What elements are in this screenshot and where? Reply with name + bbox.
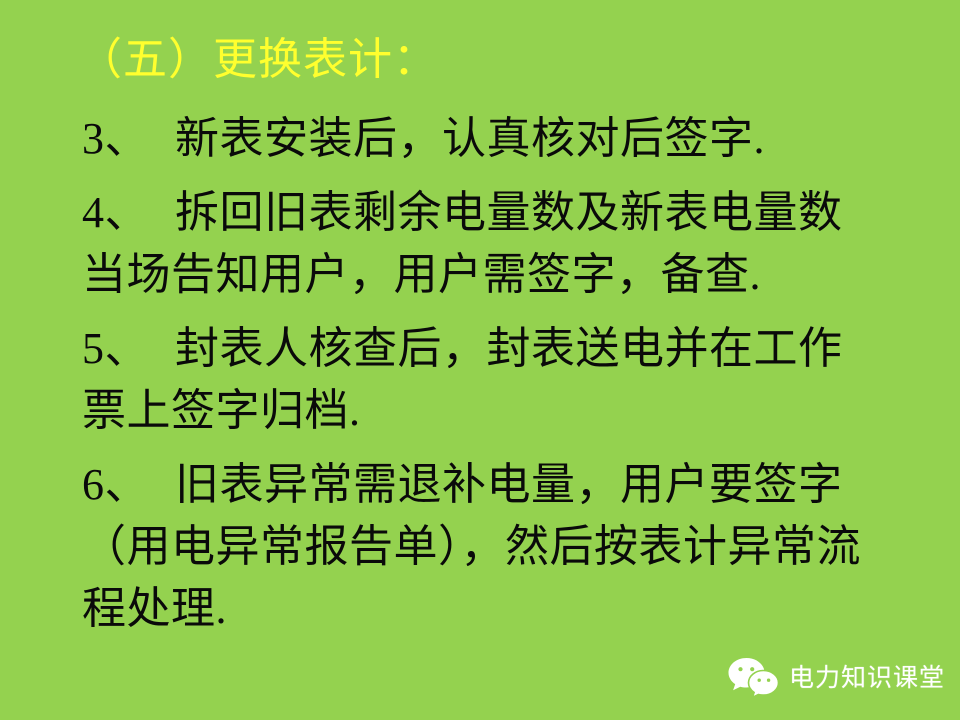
paragraph-line: （用电异常报告单），然后按表计异常流 <box>82 516 922 578</box>
list-item: 3、新表安装后，认真核对后签字. <box>82 108 922 170</box>
list-item-text: 封表人核查后，封表送电并在工作 <box>175 324 843 373</box>
list-item-text: 新表安装后，认真核对后签字. <box>175 114 765 163</box>
list-item-number: 3、 <box>82 114 149 163</box>
list-item: 5、封表人核查后，封表送电并在工作 票上签字归档. <box>82 318 922 442</box>
paragraph-line: 程处理. <box>82 578 922 640</box>
wechat-icon <box>726 656 780 700</box>
list-item-number: 6、 <box>82 460 149 509</box>
list-item: 4、拆回旧表剩余电量数及新表电量数 当场告知用户，用户需签字，备查. <box>82 182 922 306</box>
list-item-text: 拆回旧表剩余电量数及新表电量数 <box>175 188 843 237</box>
paragraph-line: 4、拆回旧表剩余电量数及新表电量数 <box>82 182 922 244</box>
list-item-number: 4、 <box>82 188 149 237</box>
page-title: （五）更换表计： <box>78 34 438 86</box>
paragraph-line: 票上签字归档. <box>82 380 922 442</box>
paragraph-line: 5、封表人核查后，封表送电并在工作 <box>82 318 922 380</box>
list-item: 6、旧表异常需退补电量，用户要签字 （用电异常报告单），然后按表计异常流 程处理… <box>82 454 922 640</box>
slide-body: 3、新表安装后，认真核对后签字. 4、拆回旧表剩余电量数及新表电量数 当场告知用… <box>82 108 922 640</box>
paragraph-line: 6、旧表异常需退补电量，用户要签字 <box>82 454 922 516</box>
list-item-number: 5、 <box>82 324 149 373</box>
paragraph-line: 3、新表安装后，认真核对后签字. <box>82 108 922 170</box>
paragraph-line: 当场告知用户，用户需签字，备查. <box>82 244 922 306</box>
wechat-watermark: 电力知识课堂 <box>726 656 945 700</box>
slide-canvas: （五）更换表计： 3、新表安装后，认真核对后签字. 4、拆回旧表剩余电量数及新表… <box>0 0 960 720</box>
wechat-account-name: 电力知识课堂 <box>789 663 945 693</box>
list-item-text: 旧表异常需退补电量，用户要签字 <box>175 460 843 509</box>
